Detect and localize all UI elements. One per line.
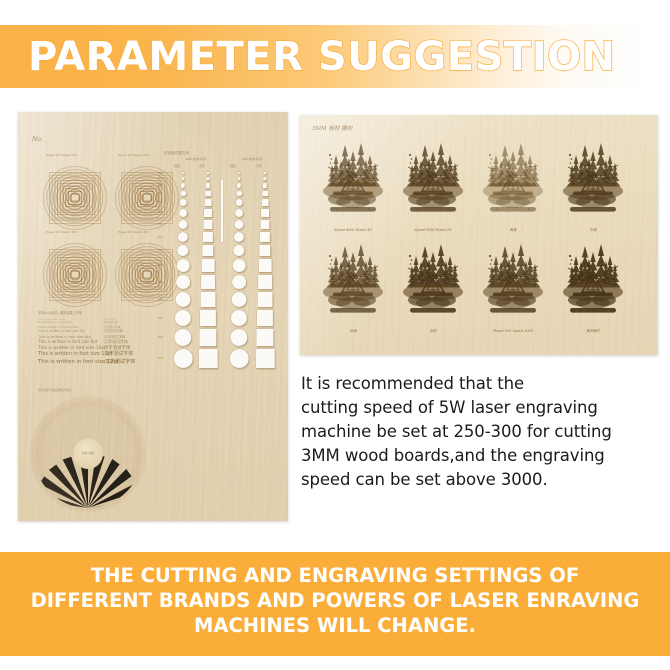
cut-square xyxy=(264,172,266,174)
cut-circle xyxy=(178,220,187,229)
cut-circle xyxy=(181,183,185,187)
cut-square xyxy=(259,259,272,272)
paragraph-line: It is recommended that the xyxy=(301,372,663,396)
cut-square xyxy=(203,220,212,229)
concentric-pattern-label: Power 80 Speed 100 xyxy=(46,153,77,157)
cut-circle xyxy=(178,232,188,242)
engraving-sample-grid: Speed 6000 Power 40Speed 5000 Power 50高速… xyxy=(320,139,642,339)
cut-square xyxy=(260,220,269,229)
engraving-sample-label: Speed 5000 Power 50 xyxy=(400,228,466,232)
font-sample-english-column: This is written in font size 4ptThis is … xyxy=(38,319,100,366)
engraving-sample-cell: 中速 xyxy=(560,139,626,231)
engraving-sample-cell: 最深模式 xyxy=(560,240,626,332)
cut-square xyxy=(207,172,209,174)
forest-camp-engraving xyxy=(560,139,626,219)
pattern-square xyxy=(71,270,80,279)
concentric-pattern-label: Power 20 Speed 400 xyxy=(118,230,149,234)
cut-square xyxy=(262,191,268,197)
page-title: PARAMETER SUGGESTION xyxy=(28,29,648,85)
font-sample-line: This is written in font size 11pt xyxy=(38,352,100,358)
cut-row-label: 85% xyxy=(158,192,163,195)
cut-circle xyxy=(176,275,190,289)
cut-row-label: 50% xyxy=(158,281,163,284)
cut-square xyxy=(202,245,213,256)
cut-group-header: 2MM 板材 切割 xyxy=(230,157,274,161)
concentric-pattern-label: Power 40 Speed 300 xyxy=(46,230,77,234)
cut-circle xyxy=(177,259,190,272)
cut-circle xyxy=(233,245,244,256)
cut-shape-column xyxy=(228,172,250,404)
concentric-pattern-label: Power 60 Speed 200 xyxy=(118,153,149,157)
pattern-square xyxy=(71,193,80,202)
paragraph-line: 3MM wood boards,and the engraving xyxy=(301,444,663,468)
right-engraving-board-photo: 3MM 板材 雕刻 Speed 6000 Power 40Speed 5000 … xyxy=(300,115,658,355)
recommendation-paragraph: It is recommended that thecutting speed … xyxy=(301,372,663,492)
cut-circle xyxy=(176,292,191,307)
footer-notice: THE CUTTING AND ENGRAVING SETTINGS OFDIF… xyxy=(0,563,670,638)
font-sample-line: This is written in font size 10pt xyxy=(38,346,100,351)
cut-circle xyxy=(182,172,184,174)
cut-square xyxy=(200,310,216,326)
cut-row-label: 100% xyxy=(156,172,163,175)
font-sample-line: This is written in font size 12pt xyxy=(38,359,100,365)
forest-camp-engraving xyxy=(400,139,466,219)
paragraph-line: cutting speed of 5W laser engraving xyxy=(301,396,663,420)
font-sample-line: 汉字测试字体 xyxy=(104,352,162,358)
cut-row-label: 95% xyxy=(158,177,163,180)
cut-circle xyxy=(237,177,240,180)
forest-camp-engraving xyxy=(320,139,386,219)
engraving-sample-label: 低速 xyxy=(320,328,386,333)
cut-square xyxy=(201,275,215,289)
cut-panel-title: 切割测试圆方块 xyxy=(164,150,189,155)
cut-square xyxy=(203,232,213,242)
paragraph-line: speed can be set above 3000. xyxy=(301,468,663,492)
cut-circle xyxy=(231,310,247,326)
cut-circle xyxy=(235,209,243,217)
engraving-sample-cell: Power 100 Speed 3000 xyxy=(480,240,546,332)
wheel-hub: 功率 / 速度 xyxy=(73,439,103,469)
cut-square xyxy=(205,199,212,206)
cut-circle xyxy=(232,292,247,307)
cut-circle xyxy=(238,172,240,174)
cut-circle xyxy=(237,183,241,187)
poster-canvas: PARAMETER SUGGESTION No. Power 80 Speed … xyxy=(0,0,670,670)
cut-circle xyxy=(177,245,188,256)
left-test-board-photo: No. Power 80 Speed 100Power 60 Speed 200… xyxy=(18,112,288,521)
cut-row-label: 65% xyxy=(158,236,163,239)
font-sample-line: 汉字测试字体 xyxy=(104,340,162,345)
font-size-sample-block: 字体大小测试 ( 雕刻效果 ) 字号 This is written in fo… xyxy=(38,310,163,382)
cut-row-label: 60% xyxy=(158,249,163,252)
cut-square xyxy=(256,349,275,368)
cut-circle xyxy=(175,310,191,326)
cut-row-label: 75% xyxy=(158,211,163,214)
cut-square xyxy=(199,349,218,368)
forest-camp-engraving xyxy=(400,240,466,320)
font-sample-line: 汉字测试字体 xyxy=(104,359,162,365)
cut-shape-column xyxy=(254,172,276,404)
cut-column-header: 圆形 xyxy=(222,164,244,168)
cut-square xyxy=(261,209,269,217)
cut-column-header: 圆形 xyxy=(166,164,188,168)
cut-square xyxy=(205,191,211,197)
cut-circle xyxy=(180,199,187,206)
cut-circle xyxy=(230,329,247,346)
engraving-sample-cell: 高速 xyxy=(480,139,546,231)
font-sample-line: This is written in font size 7pt xyxy=(38,330,100,334)
cut-group-header: 3MM 板材 切割 xyxy=(174,157,218,161)
footer-line: MACHINES WILL CHANGE. xyxy=(0,613,670,638)
cut-circle xyxy=(179,209,187,217)
handwritten-mark: 3MM 板材 雕刻 xyxy=(312,124,352,132)
font-sample-line: This is written in font size 9pt xyxy=(38,340,100,345)
cut-row-label: 70% xyxy=(158,223,163,226)
engraving-sample-cell: 低速 xyxy=(320,240,386,332)
cut-circle xyxy=(236,199,243,206)
cut-shape-column xyxy=(197,172,219,404)
wheel-hub-label: 功率 / 速度 xyxy=(82,451,95,455)
cut-circle xyxy=(174,329,191,346)
cut-square xyxy=(258,275,272,289)
cut-square xyxy=(257,310,273,326)
paragraph-line: machine be set at 250-300 for cutting xyxy=(301,420,663,444)
engraving-sample-label: 中速 xyxy=(560,227,626,232)
cut-square xyxy=(256,329,273,346)
footer-line: DIFFERENT BRANDS AND POWERS OF LASER ENR… xyxy=(0,588,670,613)
cut-circle xyxy=(232,275,246,289)
engraving-sample-label: 高速 xyxy=(480,227,546,232)
cut-circle xyxy=(174,349,193,368)
cut-square xyxy=(206,183,210,187)
font-sample-line: 汉字测试字体 xyxy=(104,330,162,334)
burn-test-wheel: 功率 / 速度 xyxy=(28,394,148,514)
cut-circle xyxy=(234,220,243,229)
font-sample-heading: 字体大小测试 ( 雕刻效果 ) 字号 xyxy=(38,310,82,315)
cut-circle xyxy=(181,177,184,180)
cut-column-header: 方形 xyxy=(191,164,213,168)
cut-square xyxy=(262,199,269,206)
font-sample-cjk-column: 汉字测试字体汉字测试字体汉字测试字体汉字测试字体汉字测试字体汉字测试字体汉字测试… xyxy=(104,319,162,366)
engraving-sample-label: 深刻 xyxy=(400,328,466,333)
cut-column-header: 方形 xyxy=(248,164,270,168)
engraving-sample-cell: 深刻 xyxy=(400,240,466,332)
cut-square xyxy=(202,259,215,272)
left-board-footnote: 激光功率与速度参数对照表 xyxy=(38,388,72,392)
cut-shape-column xyxy=(172,172,194,404)
cut-circle xyxy=(230,349,249,368)
cut-circle xyxy=(233,259,246,272)
cut-row-label: 45% xyxy=(158,298,163,301)
white-reference-rule xyxy=(221,180,223,242)
cut-size-test-panel: 切割测试圆方块 100%95%90%85%80%75%70%65%60%55%5… xyxy=(164,154,280,404)
cut-square xyxy=(263,177,266,180)
cut-row-label: 90% xyxy=(158,184,163,187)
cut-square xyxy=(206,177,209,180)
cut-row-label: 55% xyxy=(158,264,163,267)
concentric-pattern-cell: Power 40 Speed 300 xyxy=(40,237,110,312)
handwritten-mark: No. xyxy=(32,136,43,143)
cut-row-label: 80% xyxy=(158,201,163,204)
cut-square xyxy=(258,292,273,307)
concentric-pattern-cell: Power 80 Speed 100 xyxy=(40,160,110,235)
engraving-sample-cell: Speed 6000 Power 40 xyxy=(320,139,386,231)
cut-circle xyxy=(180,191,186,197)
cut-square xyxy=(263,183,267,187)
forest-camp-engraving xyxy=(560,240,626,320)
forest-camp-engraving xyxy=(480,139,546,219)
forest-camp-engraving xyxy=(320,240,386,320)
engraving-sample-label: Power 100 Speed 3000 xyxy=(480,329,546,333)
cut-square xyxy=(259,245,270,256)
engraving-sample-label: Speed 6000 Power 40 xyxy=(320,228,386,232)
cut-square xyxy=(199,329,216,346)
font-sample-line: 汉字测试字体 xyxy=(104,346,162,351)
forest-camp-engraving xyxy=(480,240,546,320)
footer-line: THE CUTTING AND ENGRAVING SETTINGS OF xyxy=(0,563,670,588)
cut-square xyxy=(201,292,216,307)
cut-circle xyxy=(234,232,244,242)
cut-circle xyxy=(236,191,242,197)
cut-square xyxy=(260,232,270,242)
engraving-sample-label: 最深模式 xyxy=(560,328,626,333)
cut-square xyxy=(204,209,212,217)
engraving-sample-cell: Speed 5000 Power 50 xyxy=(400,139,466,231)
